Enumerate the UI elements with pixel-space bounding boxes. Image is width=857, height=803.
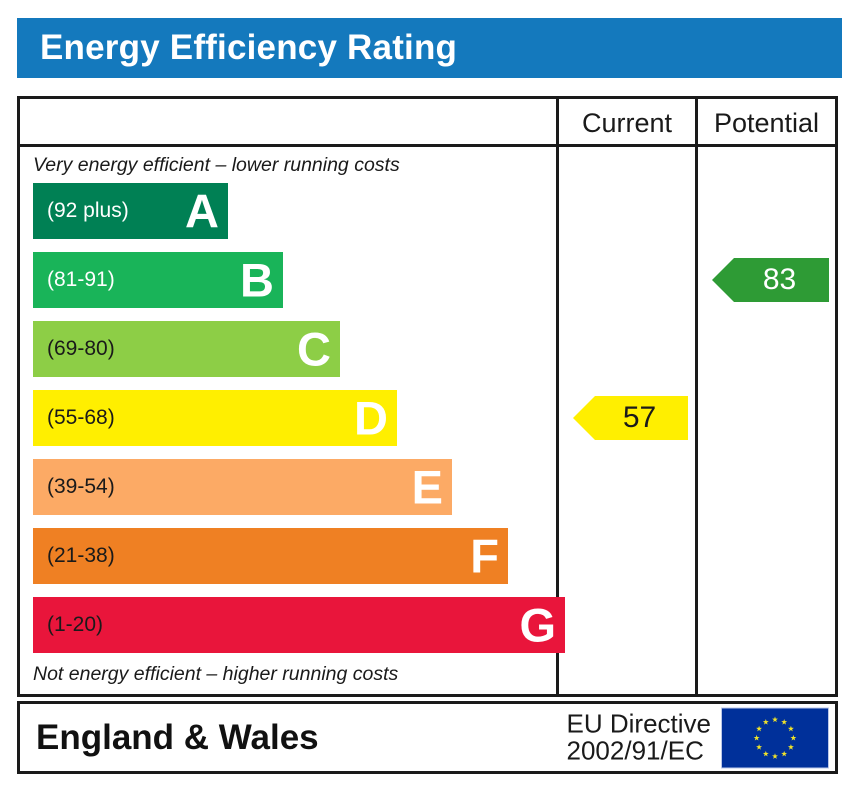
band-range-b: (81-91) [47, 268, 115, 292]
band-letter-a: A [185, 188, 219, 235]
ratings-table: Current Potential Very energy efficient … [17, 96, 838, 697]
potential-rating-marker: 83 [712, 258, 829, 302]
band-letter-c: C [297, 326, 331, 373]
band-letter-g: G [519, 602, 556, 649]
eu-directive-line-1: EU Directive [567, 710, 711, 737]
band-row-a: (92 plus) A [33, 183, 228, 239]
region-label: England & Wales [36, 718, 319, 758]
band-row-e: (39-54) E [33, 459, 452, 515]
eu-directive-label: EU Directive 2002/91/EC [567, 710, 711, 765]
note-not-efficient: Not energy efficient – higher running co… [33, 663, 398, 686]
eu-directive-line-2: 2002/91/EC [567, 738, 711, 765]
band-row-f: (21-38) F [33, 528, 508, 584]
band-row-g: (1-20) G [33, 597, 565, 653]
band-letter-e: E [412, 464, 443, 511]
band-range-c: (69-80) [47, 337, 115, 361]
footer-bar: England & Wales EU Directive 2002/91/EC [17, 701, 838, 774]
band-range-d: (55-68) [47, 406, 115, 430]
band-chart-area: Very energy efficient – lower running co… [20, 147, 556, 694]
title-bar: Energy Efficiency Rating [17, 18, 842, 78]
column-divider-potential [695, 99, 698, 694]
eu-flag-icon [721, 707, 829, 768]
page-title: Energy Efficiency Rating [40, 28, 457, 68]
band-letter-d: D [354, 395, 388, 442]
band-row-b: (81-91) B [33, 252, 283, 308]
band-range-f: (21-38) [47, 544, 115, 568]
column-header-current: Current [559, 99, 695, 147]
band-range-a: (92 plus) [47, 199, 129, 223]
band-range-g: (1-20) [47, 613, 103, 637]
band-letter-f: F [470, 533, 499, 580]
column-header-potential: Potential [698, 99, 835, 147]
band-row-d: (55-68) D [33, 390, 397, 446]
band-row-c: (69-80) C [33, 321, 340, 377]
band-letter-b: B [240, 257, 274, 304]
current-rating-marker: 57 [573, 396, 688, 440]
note-very-efficient: Very energy efficient – lower running co… [33, 154, 400, 177]
epc-certificate-graphic: Energy Efficiency Rating Current Potenti… [0, 0, 857, 803]
band-range-e: (39-54) [47, 475, 115, 499]
